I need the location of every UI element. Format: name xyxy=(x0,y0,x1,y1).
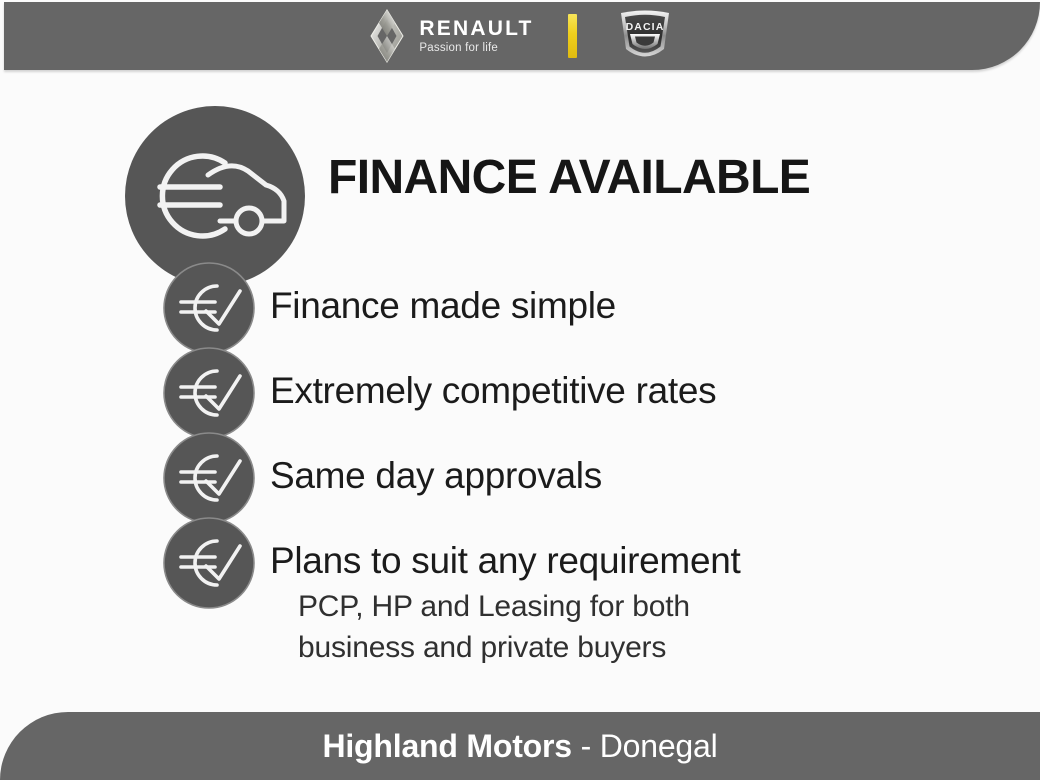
euro-check-icon xyxy=(163,262,255,354)
list-item: Finance made simple xyxy=(0,262,1040,354)
renault-tagline: Passion for life xyxy=(419,43,533,55)
dealer-location: Donegal xyxy=(600,728,718,764)
dacia-shield-icon: DACIA xyxy=(611,7,679,65)
euro-check-icon xyxy=(163,517,255,609)
renault-name: RENAULT xyxy=(419,18,533,39)
list-item-label: Finance made simple xyxy=(270,285,616,327)
renault-brand-lockup: RENAULT Passion for life xyxy=(365,8,533,64)
list-item-label: Same day approvals xyxy=(270,455,602,497)
header-bar: RENAULT Passion for life xyxy=(4,2,1040,70)
list-item: Extremely competitive rates xyxy=(0,347,1040,439)
list-item: Plans to suit any requirement PCP, HP an… xyxy=(0,517,1040,667)
brand-divider xyxy=(568,14,577,58)
hero-row: FINANCE AVAILABLE xyxy=(0,98,1040,288)
svg-text:DACIA: DACIA xyxy=(625,21,664,33)
header-brands: RENAULT Passion for life xyxy=(4,2,1040,70)
dealer-name-banner: Highland Motors - Donegal xyxy=(322,728,717,765)
list-item-label: Plans to suit any requirement xyxy=(270,540,741,582)
footer-bar: Highland Motors - Donegal xyxy=(0,712,1040,780)
list-item-subtext-line2: business and private buyers xyxy=(298,628,666,669)
list-item: Same day approvals xyxy=(0,432,1040,524)
list-item-subtext-line1: PCP, HP and Leasing for both xyxy=(298,587,690,628)
renault-wordmark: RENAULT Passion for life xyxy=(419,18,533,55)
euro-car-finance-icon xyxy=(124,105,306,287)
page-title: FINANCE AVAILABLE xyxy=(328,150,810,205)
dealer-separator: - xyxy=(572,728,600,764)
dealer-name: Highland Motors xyxy=(322,728,571,764)
euro-check-icon xyxy=(163,347,255,439)
finance-available-banner: RENAULT Passion for life xyxy=(0,0,1040,780)
list-item-label: Extremely competitive rates xyxy=(270,370,716,412)
euro-check-icon xyxy=(163,432,255,524)
renault-diamond-icon xyxy=(365,8,409,64)
